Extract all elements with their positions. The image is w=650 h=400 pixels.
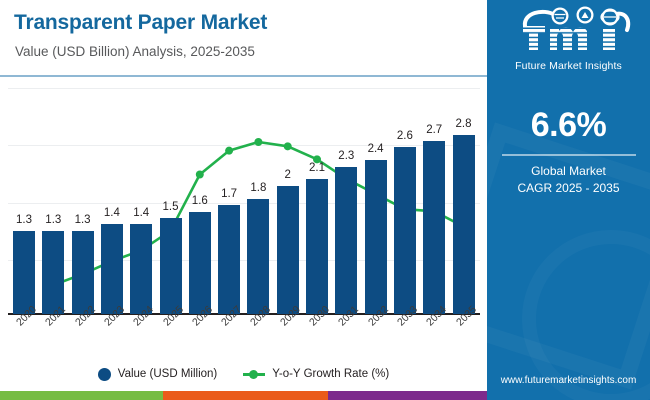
growth-rate-marker	[254, 138, 262, 146]
bar	[306, 179, 328, 314]
bar	[160, 218, 182, 314]
bar	[335, 167, 357, 314]
website-url[interactable]: www.futuremarketinsights.com	[487, 375, 650, 386]
fmi-logo-tagline: Future Market Insights	[515, 60, 622, 72]
bar	[453, 135, 475, 314]
cagr-caption-line1: Global Market	[487, 164, 650, 178]
bar-value-label: 1.8	[238, 182, 278, 194]
bar	[394, 147, 416, 314]
chart-legend: Value (USD Million) Y-o-Y Growth Rate (%…	[0, 362, 487, 386]
cagr-caption-line2: CAGR 2025 - 2035	[487, 181, 650, 195]
sidebar-panel: Future Market Insights 6.6% Global Marke…	[487, 0, 650, 400]
chart-pane: Transparent Paper Market Value (USD Bill…	[0, 0, 487, 400]
cagr-divider	[502, 154, 636, 156]
footer-strip-green	[0, 391, 163, 400]
bar-value-label: 2.1	[297, 162, 337, 174]
legend-item-value: Value (USD Million)	[98, 368, 217, 381]
legend-line-label: Y-o-Y Growth Rate (%)	[272, 368, 389, 380]
footer-strip-purple	[328, 391, 487, 400]
infographic-root: Transparent Paper Market Value (USD Bill…	[0, 0, 650, 400]
bar	[42, 231, 64, 314]
bar	[247, 199, 269, 314]
growth-rate-marker	[196, 171, 204, 179]
bar	[72, 231, 94, 314]
growth-rate-marker	[284, 142, 292, 150]
fmi-logo: Future Market Insights	[487, 4, 650, 74]
legend-line-swatch-icon	[243, 368, 265, 381]
page-subtitle: Value (USD Billion) Analysis, 2025-2035	[15, 44, 255, 59]
bar-value-label: 2.8	[444, 118, 484, 130]
bar	[218, 205, 240, 314]
cagr-block: 6.6% Global Market CAGR 2025 - 2035	[487, 108, 650, 195]
page-title: Transparent Paper Market	[14, 11, 267, 35]
legend-item-growth: Y-o-Y Growth Rate (%)	[243, 368, 389, 381]
plot-area: 1.31.31.31.41.41.51.61.71.822.12.32.42.6…	[0, 80, 487, 316]
bar	[277, 186, 299, 314]
header-divider	[0, 75, 487, 77]
bar-value-label: 2.4	[356, 143, 396, 155]
cagr-value: 6.6%	[487, 108, 650, 142]
bar	[101, 224, 123, 314]
legend-bar-label: Value (USD Million)	[118, 368, 217, 380]
bar	[130, 224, 152, 314]
bar	[423, 141, 445, 314]
legend-bar-swatch-icon	[98, 368, 111, 381]
bar	[189, 212, 211, 315]
growth-rate-marker	[225, 147, 233, 155]
bar	[365, 160, 387, 314]
footer-strip-orange	[163, 391, 328, 400]
bar	[13, 231, 35, 314]
fmi-logo-mark-icon	[503, 6, 635, 58]
x-axis-labels: 2020202120222023202420252026202720282029…	[0, 316, 487, 358]
chart-header: Transparent Paper Market Value (USD Bill…	[0, 0, 487, 76]
